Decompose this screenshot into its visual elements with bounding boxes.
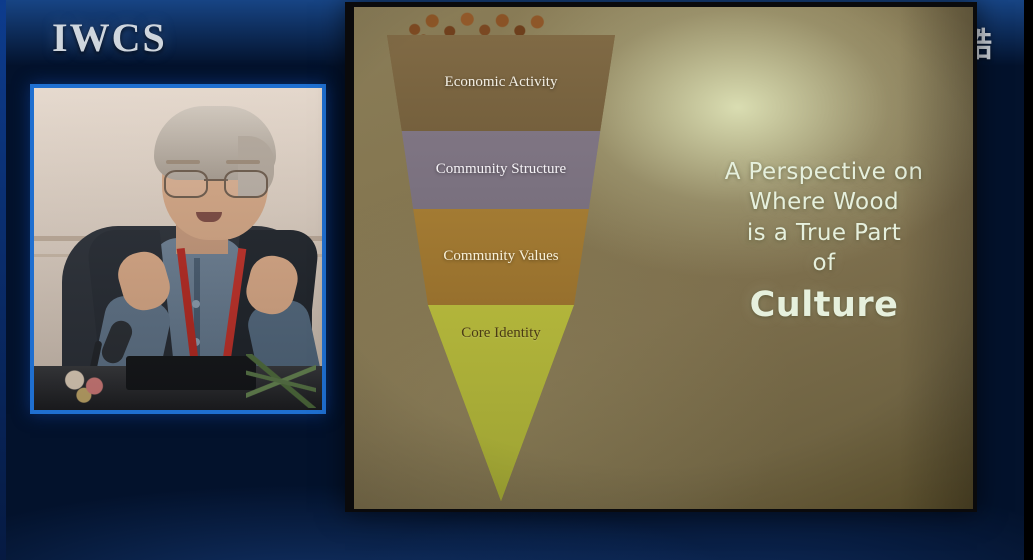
flower-arrangement <box>56 364 118 404</box>
slide-surface: Economic Activity Community Structure Co… <box>354 7 973 509</box>
slide-title-line-4: of <box>813 250 836 276</box>
funnel-band-label: Economic Activity <box>435 74 568 92</box>
slide-title-line-2: Where Wood <box>749 189 899 215</box>
funnel-band-label: Core Identity <box>451 325 551 343</box>
shirt-button <box>192 300 200 308</box>
funnel-band-community-values: Community Values <box>387 209 615 305</box>
funnel-band-label: Community Structure <box>426 161 576 179</box>
projection-screen: Economic Activity Community Structure Co… <box>345 2 977 512</box>
funnel-diagram: Economic Activity Community Structure Co… <box>387 29 615 501</box>
slide-title: A Perspective on Where Wood is a True Pa… <box>699 157 949 329</box>
presenter-eyebrow <box>166 160 200 164</box>
laptop <box>126 356 256 390</box>
video-frame: IWCS 优酷 <box>0 0 1033 560</box>
foliage <box>246 354 316 408</box>
slide-title-emphasis: Culture <box>699 282 949 328</box>
funnel-band-community-structure: Community Structure <box>387 131 615 209</box>
slide-title-line-1: A Perspective on <box>725 159 924 185</box>
slide-title-line-3: is a True Part <box>747 220 901 246</box>
eyeglass-lens <box>224 170 268 198</box>
funnel-band-label: Community Values <box>433 248 568 266</box>
eyeglass-lens <box>164 170 208 198</box>
frame-left-edge <box>0 0 6 560</box>
speaker-video-inset <box>30 84 326 414</box>
frame-right-edge <box>1024 0 1033 560</box>
iwcs-logo: IWCS <box>52 14 167 61</box>
presenter-eyebrow <box>226 160 260 164</box>
eyeglasses-icon <box>164 170 268 196</box>
funnel-band-core-identity: Core Identity <box>387 305 615 501</box>
funnel-band-economic-activity: Economic Activity <box>387 35 615 131</box>
